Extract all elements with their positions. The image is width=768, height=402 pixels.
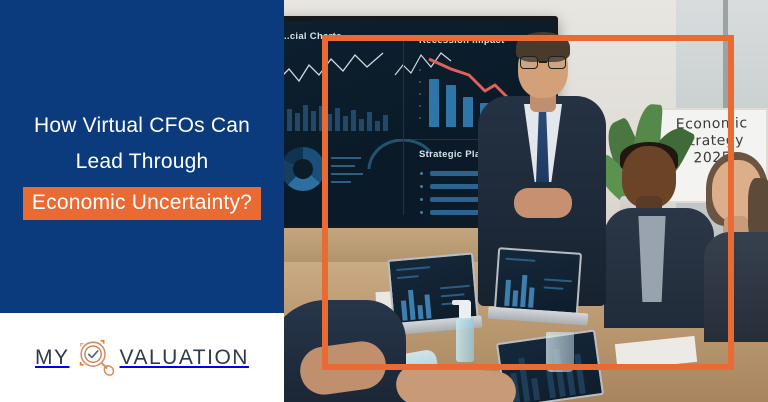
brand-logo[interactable]: MY VALUATION <box>35 335 249 381</box>
headline-highlight: Economic Uncertainty? <box>23 187 261 220</box>
seated-woman-body <box>704 232 768 342</box>
accent-frame-left <box>322 35 328 370</box>
accent-frame-bottom <box>322 364 734 370</box>
meeting-photo: Economic Strategy 2025 ...cial Charts <box>256 0 768 402</box>
headline-panel: How Virtual CFOs Can Lead Through Econom… <box>0 0 284 313</box>
monitor-panel-divider <box>403 39 404 215</box>
presenter-glasses-icon <box>520 56 566 69</box>
accent-frame-right <box>728 35 734 370</box>
sanitizer-pump <box>459 300 471 320</box>
monitor-donut-hole <box>293 159 313 179</box>
monitor-histogram <box>279 105 397 131</box>
magnifier-check-icon <box>72 335 118 381</box>
headline-line-2: Lead Through <box>0 144 284 180</box>
logo-word-valuation: VALUATION <box>120 346 249 370</box>
accent-frame-top <box>322 35 734 41</box>
logo-bar: MY VALUATION <box>0 313 284 402</box>
presenter-hands <box>514 188 572 218</box>
blog-banner: Economic Strategy 2025 ...cial Charts <box>0 0 768 402</box>
page-title: How Virtual CFOs Can Lead Through Econom… <box>0 108 284 220</box>
hand-sanitizer-bottle <box>456 318 474 362</box>
logo-word-my: MY <box>35 346 70 370</box>
headline-line-1: How Virtual CFOs Can <box>0 108 284 144</box>
monitor-line-chart <box>277 49 387 93</box>
